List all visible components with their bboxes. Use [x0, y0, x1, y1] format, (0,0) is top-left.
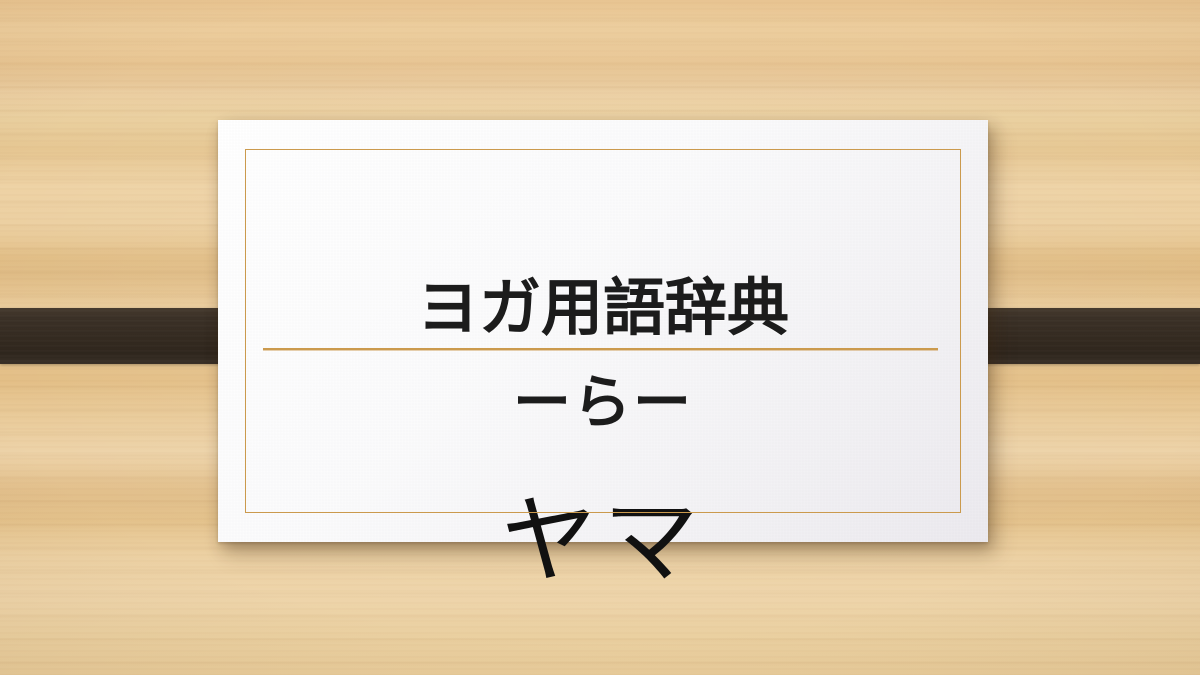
page-title: ヨガ用語辞典: [218, 277, 988, 339]
divider-rule: [263, 348, 938, 351]
slide-canvas: ヨガ用語辞典 ーらー ヤマ: [0, 0, 1200, 675]
headword-term: ヤマ: [218, 493, 988, 589]
title-card: ヨガ用語辞典 ーらー ヤマ: [218, 120, 988, 542]
page-subtitle: ーらー: [218, 373, 988, 431]
